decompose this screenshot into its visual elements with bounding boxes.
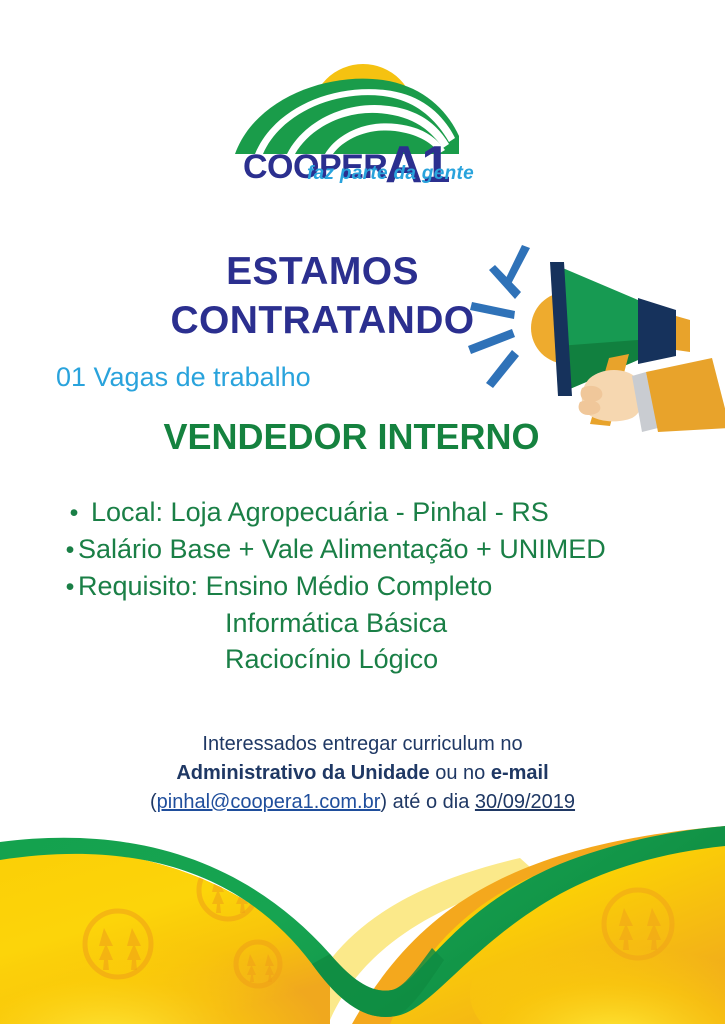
list-item-label: Requisito: Ensino Médio Completo (78, 571, 492, 601)
megaphone-body (638, 298, 676, 364)
job-role-title: VENDEDOR INTERNO (0, 416, 714, 458)
job-details-list: •Local: Loja Agropecuária - Pinhal - RS … (0, 494, 725, 677)
logo-tagline: faz parte da gente (307, 163, 474, 185)
list-item: •Local: Loja Agropecuária - Pinhal - RS (0, 494, 725, 531)
bullet-icon: • (62, 532, 78, 568)
list-item: •Requisito: Ensino Médio Completo (0, 568, 725, 605)
bullet-icon: • (62, 569, 78, 605)
contact-conjunction: ou no (430, 762, 491, 784)
company-logo: COOPER A1 faz parte da gente (0, 38, 725, 198)
vacancies-count: 01 Vagas de trabalho (56, 363, 311, 393)
decorative-wave-footer (0, 824, 725, 1024)
megaphone-burst-lines (468, 245, 530, 388)
contact-line-3: (pinhal@coopera1.com.br) até o dia 30/09… (0, 788, 725, 817)
job-posting-poster: COOPER A1 faz parte da gente ESTAMOS CON… (0, 0, 725, 1024)
list-item: •Salário Base + Vale Alimentação + UNIME… (0, 531, 725, 568)
deadline-date: 30/09/2019 (475, 791, 575, 813)
deadline-prefix: ) até o dia (380, 791, 475, 813)
contact-line-1: Interessados entregar curriculum no (0, 730, 725, 759)
email-link[interactable]: pinhal@coopera1.com.br (157, 791, 381, 813)
contact-email-label: e-mail (491, 762, 549, 784)
megaphone-cap (676, 316, 690, 352)
megaphone-icon (462, 228, 725, 438)
bullet-icon: • (66, 495, 82, 531)
contact-line-2: Administrativo da Unidade ou no e-mail (0, 759, 725, 788)
paren-open: ( (150, 791, 157, 813)
list-item-label: Local: Loja Agropecuária - Pinhal - RS (82, 497, 549, 527)
requirement-subline: Informática Básica (0, 605, 725, 641)
requirement-subline: Raciocínio Lógico (0, 641, 725, 677)
contact-department: Administrativo da Unidade (176, 762, 429, 784)
contact-instructions: Interessados entregar curriculum no Admi… (0, 730, 725, 817)
list-item-label: Salário Base + Vale Alimentação + UNIMED (78, 534, 606, 564)
